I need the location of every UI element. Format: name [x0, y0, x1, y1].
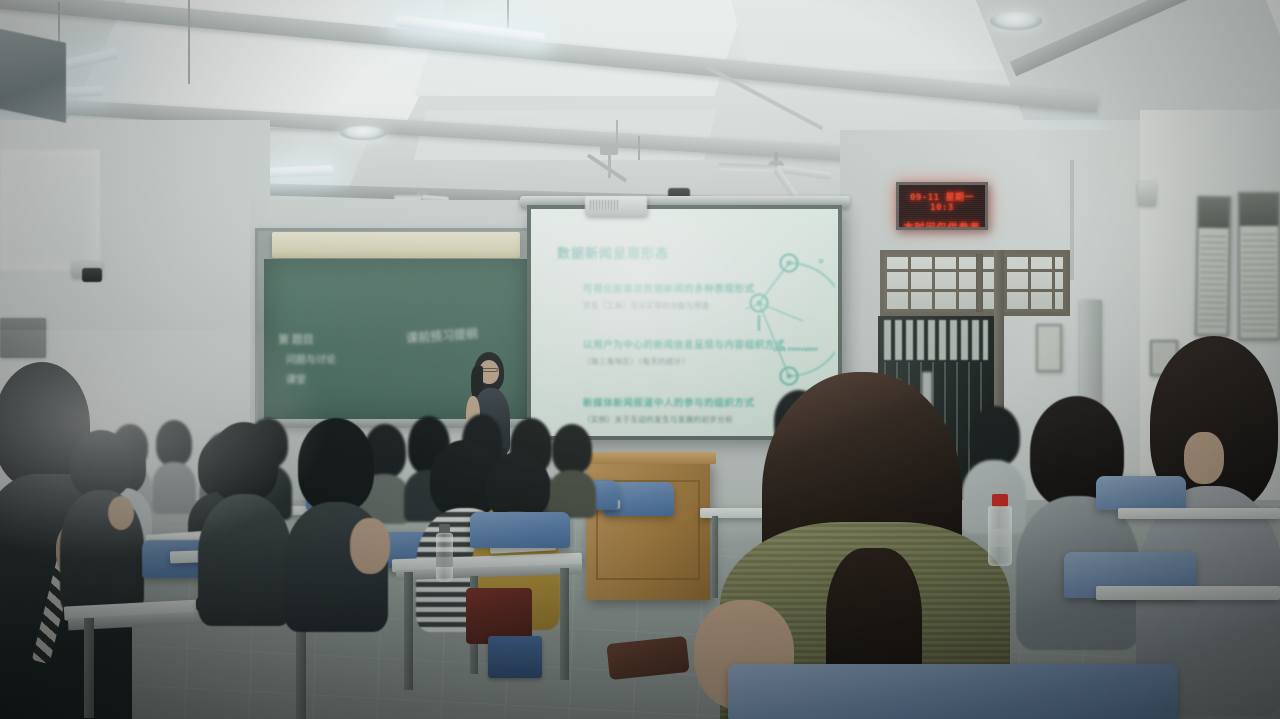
transom-mullion	[976, 254, 983, 312]
desk-leg	[404, 572, 413, 690]
fan-blade	[718, 163, 776, 172]
slide-bullet-heading: 可视化叙事类数据新闻的多种表现形式	[583, 281, 755, 295]
chalkboard-lamp	[272, 232, 520, 258]
projector-ceiling-pole	[616, 120, 618, 150]
desk-leg	[560, 568, 569, 680]
light-hanger-2	[188, 0, 190, 84]
student-right-grey	[1016, 396, 1144, 646]
student-arm	[350, 518, 390, 574]
lectern-top	[580, 452, 716, 464]
slide-bullet-sub: 交互（工具）可以实现的功能与用途	[583, 300, 755, 311]
student-fg-center-b	[282, 418, 392, 628]
desk-right	[1096, 586, 1280, 600]
water-bottle-center[interactable]	[436, 524, 453, 582]
stool-blue	[488, 636, 542, 678]
transom-window-grid	[887, 257, 1063, 309]
student-hair	[486, 452, 550, 520]
teacher-glasses	[482, 368, 498, 372]
ac-vent-panel	[0, 28, 66, 123]
slide-title: 数据新闻呈现形态	[557, 243, 669, 262]
led-line-notice: 本时间仅供参考	[901, 219, 983, 230]
wall-switch-panel[interactable]	[1138, 182, 1156, 206]
hub-node-label-top: D	[819, 259, 823, 265]
notice-header	[1199, 198, 1230, 228]
student-hair	[70, 430, 132, 498]
wall-speaker-left	[82, 268, 102, 282]
student-hair	[210, 422, 278, 502]
chair-fg-right[interactable]	[728, 664, 1178, 719]
slide-bullet-1: 可视化叙事类数据新闻的多种表现形式 交互（工具）可以实现的功能与用途	[583, 281, 755, 311]
led-line-date-time: 09-11 星期一 10:3	[901, 190, 983, 213]
desk-leg	[84, 618, 94, 718]
projector-vent	[590, 200, 620, 210]
data-journalism-hub-diagram	[743, 247, 835, 392]
student-fg-left-2	[60, 430, 150, 610]
student-hair	[298, 418, 374, 512]
door-upper-grille	[884, 320, 988, 360]
led-clock-sign: 09-11 星期一 10:3 本时间仅供参考	[896, 182, 988, 230]
notice-text-lines	[1199, 233, 1227, 327]
chalk-line-2: 问题与讨论	[286, 351, 336, 366]
chalk-line-1: 第 题目	[278, 331, 314, 347]
bottle-label	[988, 529, 1012, 548]
light-hanger-3	[507, 0, 509, 28]
hub-center-label: Data Innovation	[773, 347, 818, 353]
chalk-line-3: 课堂	[286, 371, 306, 386]
chair-right-far[interactable]	[1096, 476, 1186, 510]
chair-center[interactable]	[470, 512, 570, 548]
notice-text-lines	[1242, 231, 1275, 330]
door-transom	[880, 250, 1070, 316]
student-hand-on-face	[1184, 432, 1224, 484]
student-hand	[108, 496, 134, 530]
wall-notice-board-2[interactable]	[1238, 192, 1280, 340]
dome-ceiling-light	[990, 12, 1042, 30]
notice-header	[1240, 194, 1278, 226]
wall-panel-left	[0, 318, 46, 358]
student-far-right	[1140, 336, 1280, 719]
wall-conduit-right	[1070, 160, 1074, 280]
student-torso	[198, 494, 292, 626]
student-fg-center-a	[196, 422, 296, 622]
desk-right-far	[1118, 508, 1280, 519]
chalk-line-right: 课前预习提纲	[405, 325, 478, 347]
dome-ceiling-light-2	[340, 126, 386, 140]
window-left	[0, 150, 100, 270]
wall-small-frame	[1036, 324, 1062, 372]
water-bottle-right[interactable]	[988, 494, 1012, 566]
wall-notice-board-1[interactable]	[1195, 196, 1231, 337]
ceiling-fan-2	[716, 152, 836, 186]
bottle-label	[436, 552, 453, 567]
light-hanger-4	[638, 136, 640, 160]
classroom-photo: 第 题目 问题与讨论 课堂 课前预习提纲 数据新闻呈现形态 可视化叙事类数据新闻…	[0, 0, 1280, 719]
